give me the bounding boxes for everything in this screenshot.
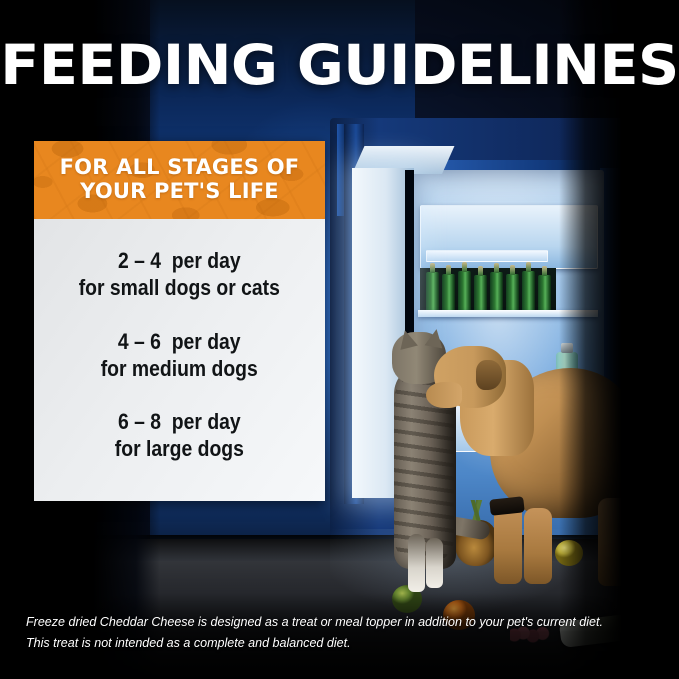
cat-leg [408, 534, 425, 592]
card-header-line-2: YOUR PET'S LIFE [60, 180, 300, 204]
feeding-row: 6 – 8 per day for large dogs [106, 408, 253, 463]
disclaimer-line-1: Freeze dried Cheddar Cheese is designed … [26, 611, 634, 632]
dog-head [434, 346, 506, 408]
feeding-description: for small dogs or cats [79, 274, 280, 301]
green-bottle [522, 271, 535, 312]
green-bottle [506, 274, 519, 312]
feeding-row: 2 – 4 per day for small dogs or cats [65, 247, 294, 302]
green-bottle [426, 272, 439, 312]
feeding-description: for large dogs [115, 435, 244, 462]
feeding-amount: 6 – 8 per day [115, 408, 244, 435]
green-bottle [538, 275, 551, 312]
card-body: 2 – 4 per day for small dogs or cats 4 –… [34, 219, 325, 501]
card-header: FOR ALL STAGES OF YOUR PET'S LIFE [34, 141, 325, 219]
feeding-guidelines-graphic: FEEDING GUIDELINES FOR ALL STAGES OF YOU… [0, 0, 679, 679]
dog-ear [476, 360, 502, 390]
feeding-description: for medium dogs [101, 355, 258, 382]
cat-ear [396, 328, 418, 350]
page-title: FEEDING GUIDELINES [0, 38, 679, 93]
dog-muzzle [426, 382, 462, 408]
green-bottle [474, 275, 487, 312]
disclaimer-line-2: This treat is not intended as a complete… [26, 632, 634, 653]
right-vignette [559, 0, 679, 679]
bottle-shelf-recess [420, 268, 556, 312]
dog-front-leg [524, 508, 552, 584]
page-title-text: FEEDING GUIDELINES [0, 38, 678, 93]
feeding-row: 4 – 6 per day for medium dogs [90, 328, 268, 383]
card-header-text: FOR ALL STAGES OF YOUR PET'S LIFE [60, 156, 300, 204]
feeding-guidelines-card: FOR ALL STAGES OF YOUR PET'S LIFE 2 – 4 … [34, 141, 325, 501]
green-bottle [442, 274, 455, 312]
green-bottle [490, 272, 503, 312]
feeding-amount: 2 – 4 per day [79, 247, 280, 274]
feeding-amount: 4 – 6 per day [101, 328, 258, 355]
card-header-line-1: FOR ALL STAGES OF [60, 156, 300, 180]
refrigerator-shelf-lip [426, 250, 548, 262]
disclaimer: Freeze dried Cheddar Cheese is designed … [26, 611, 634, 653]
green-bottle [458, 271, 471, 312]
